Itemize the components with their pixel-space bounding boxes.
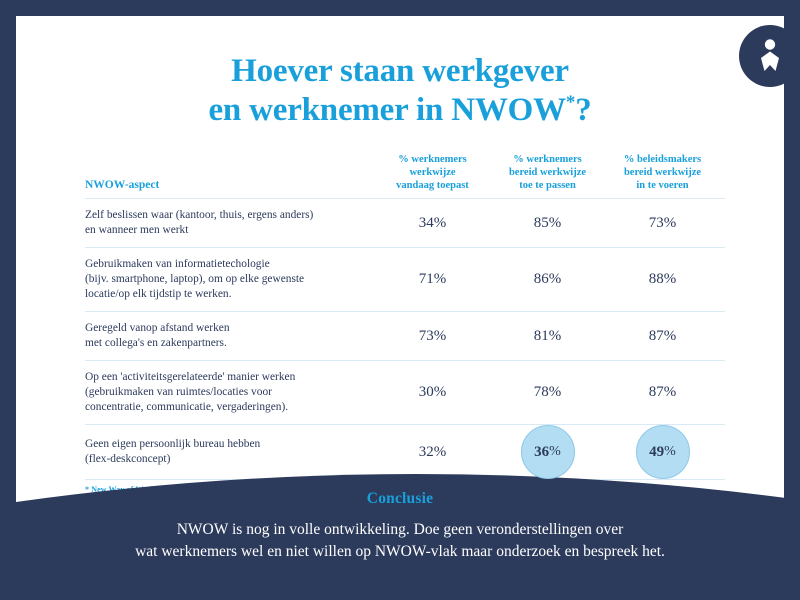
header-col-2: % werknemers bereid werkwijze toe te pas… — [490, 153, 605, 192]
highlight-percent-sign: % — [549, 444, 561, 460]
header-col-3-line-3: in te voeren — [605, 179, 720, 192]
row-value-1: 34% — [375, 215, 490, 232]
row-aspect: Zelf beslissen waar (kantoor, thuis, erg… — [85, 199, 375, 247]
row-aspect-line: Geen eigen persoonlijk bureau hebben — [85, 437, 367, 452]
title-line-1: Hoever staan werkgever — [16, 52, 784, 91]
title-asterisk: * — [566, 92, 575, 113]
table-row: Geen eigen persoonlijk bureau hebben (fl… — [85, 425, 725, 479]
header-col-2-line-2: bereid werkwijze — [490, 166, 605, 179]
header-col-1-line-1: % werknemers — [375, 153, 490, 166]
slide: Hoever staan werkgever en werknemer in N… — [0, 0, 800, 600]
conclusion-block: Conclusie NWOW is nog in volle ontwikkel… — [0, 480, 800, 600]
highlight-percent-sign: % — [664, 444, 676, 460]
person-badge-icon — [739, 25, 800, 87]
row-value-2: 85% — [490, 215, 605, 232]
row-aspect-line: (flex-deskconcept) — [85, 452, 367, 467]
row-aspect-line: Geregeld vanop afstand werken — [85, 321, 367, 336]
conclusion-text: NWOW is nog in volle ontwikkeling. Doe g… — [0, 519, 800, 563]
row-value-2: 78% — [490, 384, 605, 401]
row-value-1: 71% — [375, 271, 490, 288]
title-line-2-text: en werknemer in NWOW — [208, 92, 565, 128]
row-aspect-line: (bijv. smartphone, laptop), om op elke g… — [85, 272, 367, 287]
highlight-value: 49 — [649, 444, 664, 461]
highlight-bubble: 49% — [636, 425, 690, 479]
row-aspect-line: met collega's en zakenpartners. — [85, 336, 367, 351]
header-col-1-line-2: werkwijze — [375, 166, 490, 179]
conclusion-line-2: wat werknemers wel en niet willen op NWO… — [0, 541, 800, 563]
table-row: Geregeld vanop afstand werken met colleg… — [85, 312, 725, 360]
header-col-1-line-3: vandaag toepast — [375, 179, 490, 192]
table-row: Zelf beslissen waar (kantoor, thuis, erg… — [85, 199, 725, 247]
table-header-row: NWOW-aspect % werknemers werkwijze vanda… — [85, 153, 725, 198]
row-aspect-line: Zelf beslissen waar (kantoor, thuis, erg… — [85, 208, 367, 223]
row-value-3: 73% — [605, 215, 720, 232]
row-value-3-highlighted: 49% — [605, 425, 720, 479]
row-value-1: 73% — [375, 328, 490, 345]
row-value-2: 86% — [490, 271, 605, 288]
title-question-mark: ? — [575, 92, 591, 128]
header-col-3-line-2: bereid werkwijze — [605, 166, 720, 179]
row-value-1: 30% — [375, 384, 490, 401]
conclusion-line-1: NWOW is nog in volle ontwikkeling. Doe g… — [0, 519, 800, 541]
highlight-value: 36 — [534, 444, 549, 461]
row-value-1: 32% — [375, 444, 490, 461]
row-value-2-highlighted: 36% — [490, 425, 605, 479]
row-aspect-line: concentratie, communicatie, vergaderinge… — [85, 400, 367, 415]
table-row: Gebruikmaken van informatietechologie (b… — [85, 248, 725, 311]
nwow-table: NWOW-aspect % werknemers werkwijze vanda… — [85, 153, 725, 494]
header-col-2-line-1: % werknemers — [490, 153, 605, 166]
header-col-3: % beleidsmakers bereid werkwijze in te v… — [605, 153, 720, 192]
header-aspect: NWOW-aspect — [85, 179, 375, 192]
page-title: Hoever staan werkgever en werknemer in N… — [16, 52, 784, 130]
title-line-2: en werknemer in NWOW*? — [16, 91, 784, 130]
highlight-bubble: 36% — [521, 425, 575, 479]
row-aspect-line: locatie/op elk tijdstip te werken. — [85, 287, 367, 302]
row-aspect-line: (gebruikmaken van ruimtes/locaties voor — [85, 385, 367, 400]
header-col-1: % werknemers werkwijze vandaag toepast — [375, 153, 490, 192]
row-value-3: 87% — [605, 328, 720, 345]
conclusion-label: Conclusie — [0, 490, 800, 508]
row-aspect: Geen eigen persoonlijk bureau hebben (fl… — [85, 428, 375, 476]
table-row: Op een 'activiteitsgerelateerde' manier … — [85, 361, 725, 424]
row-aspect-line: Op een 'activiteitsgerelateerde' manier … — [85, 370, 367, 385]
row-value-3: 87% — [605, 384, 720, 401]
header-col-3-line-1: % beleidsmakers — [605, 153, 720, 166]
row-aspect: Gebruikmaken van informatietechologie (b… — [85, 248, 375, 311]
row-aspect-line: en wanneer men werkt — [85, 223, 367, 238]
row-aspect-line: Gebruikmaken van informatietechologie — [85, 257, 367, 272]
row-value-2: 81% — [490, 328, 605, 345]
row-aspect: Op een 'activiteitsgerelateerde' manier … — [85, 361, 375, 424]
row-aspect: Geregeld vanop afstand werken met colleg… — [85, 312, 375, 360]
header-col-2-line-3: toe te passen — [490, 179, 605, 192]
row-value-3: 88% — [605, 271, 720, 288]
